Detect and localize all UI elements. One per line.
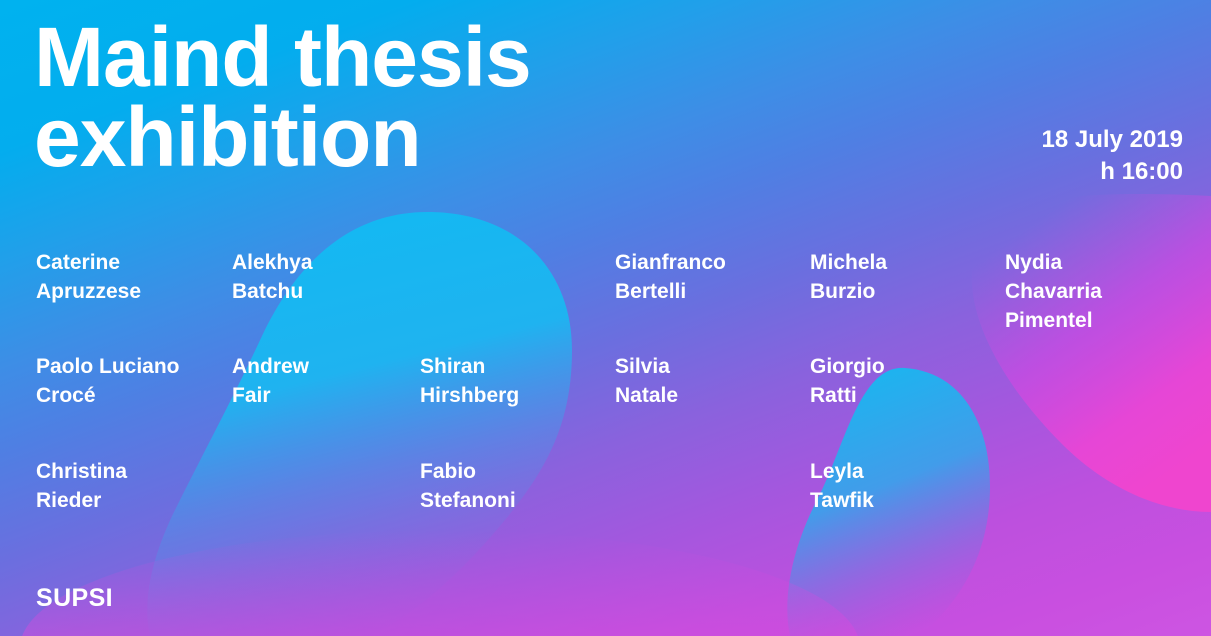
event-datetime: 18 July 2019 h 16:00: [1042, 124, 1183, 187]
event-date: 18 July 2019: [1042, 124, 1183, 156]
poster-canvas: Maind thesis exhibition 18 July 2019 h 1…: [0, 0, 1211, 636]
exhibitor-name: Caterine Apruzzese: [36, 248, 141, 306]
page-title: Maind thesis exhibition: [34, 18, 531, 178]
exhibitor-name: Nydia Chavarria Pimentel: [1005, 248, 1102, 335]
event-time: h 16:00: [1042, 156, 1183, 188]
exhibitor-name: Christina Rieder: [36, 457, 127, 515]
exhibitor-name: Fabio Stefanoni: [420, 457, 516, 515]
exhibitor-name: Andrew Fair: [232, 352, 309, 410]
exhibitor-name: Michela Burzio: [810, 248, 887, 306]
exhibitor-names-grid: Caterine ApruzzesePaolo Luciano CrocéChr…: [0, 240, 1211, 530]
exhibitor-name: Shiran Hirshberg: [420, 352, 519, 410]
exhibitor-name: Gianfranco Bertelli: [615, 248, 726, 306]
exhibitor-name: Alekhya Batchu: [232, 248, 313, 306]
exhibitor-name: Leyla Tawfik: [810, 457, 874, 515]
supsi-logo: SUPSI: [36, 584, 113, 613]
blob-magenta-bottom: [20, 530, 860, 636]
exhibitor-name: Giorgio Ratti: [810, 352, 885, 410]
exhibitor-name: Paolo Luciano Crocé: [36, 352, 180, 410]
exhibitor-name: Silvia Natale: [615, 352, 678, 410]
